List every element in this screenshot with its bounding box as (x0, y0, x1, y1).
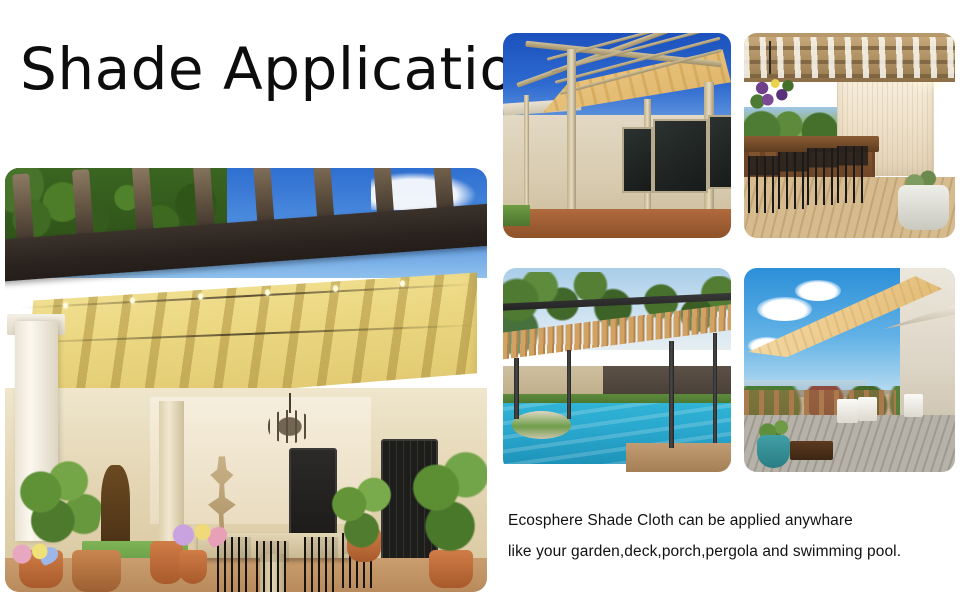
potted-tree (323, 465, 400, 558)
flower-cluster (10, 541, 58, 566)
grass-patch (503, 205, 530, 226)
pool-deck (626, 443, 731, 472)
hanging-flower-basket (748, 70, 794, 115)
pergola-post (669, 341, 674, 447)
teal-pot (757, 435, 791, 468)
caption-line-2: like your garden,deck,porch,pergola and … (508, 536, 960, 567)
courtyard-pergola-photo (5, 168, 487, 592)
dining-chair (837, 146, 869, 203)
chandelier (256, 393, 323, 461)
deck-shade-sail-photo (744, 268, 955, 472)
pergola-post (524, 95, 530, 210)
house-window (708, 115, 731, 189)
iron-chair (217, 537, 251, 592)
dining-chair (778, 152, 810, 209)
dining-chair (748, 156, 780, 213)
deck-roller-shade-photo (744, 33, 955, 238)
cloud (795, 280, 841, 300)
poolside-pergola-photo (503, 268, 731, 472)
iron-chair (256, 541, 290, 592)
house-door (622, 127, 653, 193)
wood-pergola-patio-photo (503, 33, 731, 238)
terracotta-pot (72, 550, 120, 592)
shade-application-banner: Shade Application (0, 0, 970, 600)
patio-chair (858, 397, 877, 421)
potted-tree (410, 439, 487, 566)
wooden-door-arch (101, 465, 130, 550)
pergola-post (514, 358, 519, 419)
cloud (757, 297, 812, 321)
planter-box (790, 441, 832, 459)
white-planter (898, 185, 949, 230)
patio-floor (503, 209, 731, 238)
string-light-bulb (333, 285, 338, 292)
patio-chair (837, 399, 858, 423)
caption-text: Ecosphere Shade Cloth can be applied any… (508, 505, 960, 567)
string-light-bulb (63, 302, 68, 309)
terracotta-pot (179, 550, 208, 584)
pergola-post (567, 350, 572, 419)
pergola-post (713, 333, 718, 443)
pergola-post (567, 49, 576, 225)
dining-chair (807, 148, 839, 205)
patio-chair (904, 394, 923, 416)
page-title: Shade Application (20, 38, 553, 102)
house-window (653, 119, 707, 193)
flower-cluster (169, 520, 227, 550)
string-light-bulb (198, 293, 203, 300)
caption-line-1: Ecosphere Shade Cloth can be applied any… (508, 505, 960, 536)
